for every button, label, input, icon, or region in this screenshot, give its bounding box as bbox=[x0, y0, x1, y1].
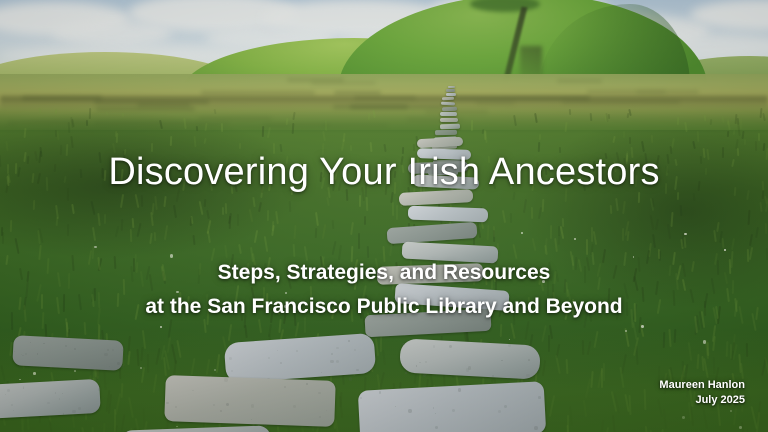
text-overlay: Discovering Your Irish Ancestors Steps, … bbox=[0, 0, 768, 432]
byline: Maureen Hanlon July 2025 bbox=[659, 378, 745, 407]
slide-subtitle: Steps, Strategies, and Resources at the … bbox=[0, 256, 768, 324]
slide-title: Discovering Your Irish Ancestors bbox=[0, 152, 768, 194]
subtitle-line-1: Steps, Strategies, and Resources bbox=[0, 256, 768, 290]
subtitle-line-2: at the San Francisco Public Library and … bbox=[0, 290, 768, 324]
byline-date: July 2025 bbox=[659, 393, 745, 408]
title-slide: Discovering Your Irish Ancestors Steps, … bbox=[0, 0, 768, 432]
byline-author: Maureen Hanlon bbox=[659, 378, 745, 393]
